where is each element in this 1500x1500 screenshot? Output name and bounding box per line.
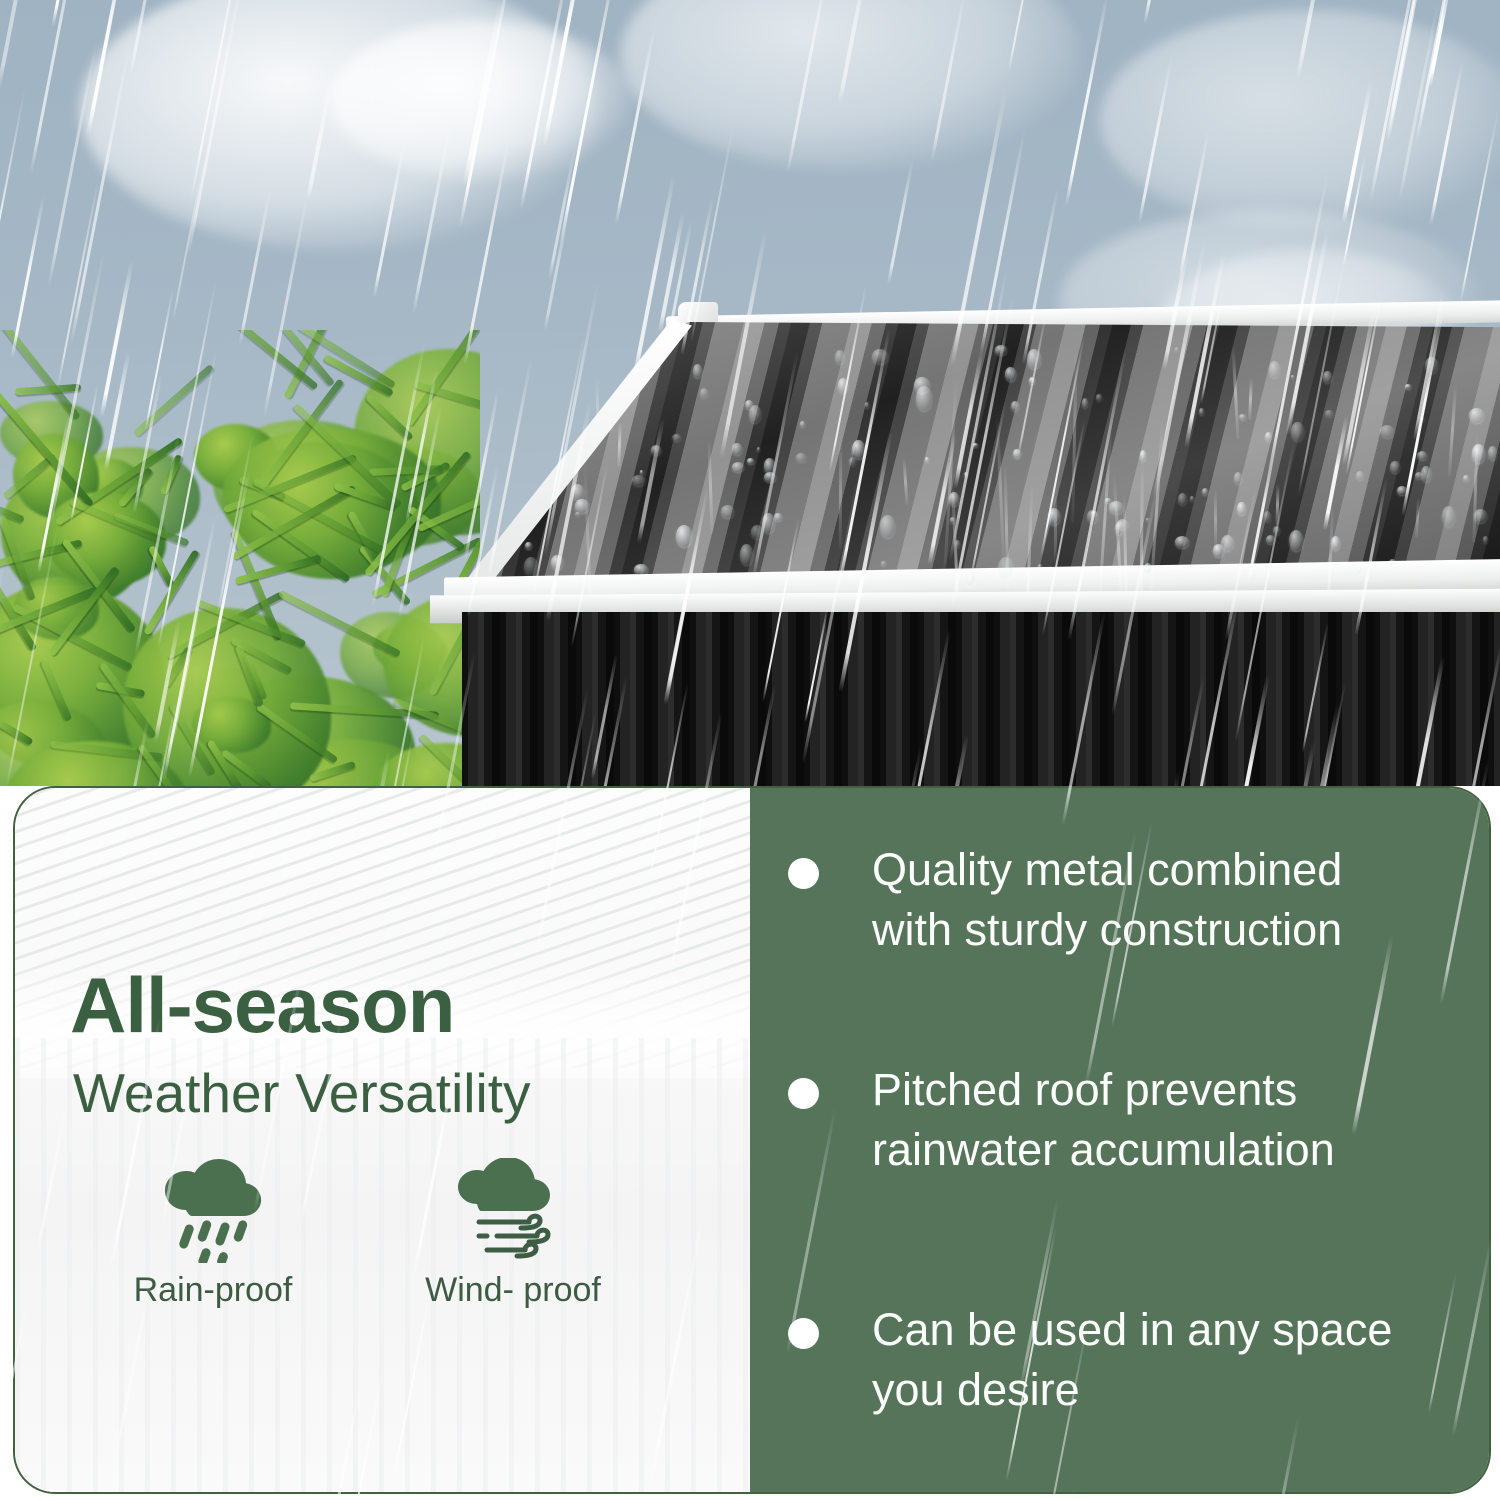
water-droplet: [1380, 425, 1394, 438]
water-droplet: [762, 513, 775, 533]
leaf-frond: [15, 383, 81, 395]
water-droplet: [1190, 496, 1194, 501]
water-droplet: [1325, 410, 1332, 417]
water-rivulet: [596, 378, 600, 433]
water-droplet: [1356, 471, 1364, 480]
water-droplet: [995, 345, 1006, 355]
list-item: Pitched roof prevents rainwater accumula…: [788, 1060, 1468, 1180]
water-droplet: [1483, 536, 1488, 543]
wind-cloud-icon: [363, 1158, 663, 1263]
water-droplet: [1221, 535, 1234, 551]
bullet-dot-icon: [788, 1078, 819, 1109]
water-droplet: [1415, 472, 1423, 479]
water-droplet: [1421, 466, 1431, 481]
water-droplet: [747, 458, 754, 464]
roof-wet-sheen: [470, 322, 1500, 590]
water-droplet: [1389, 559, 1396, 565]
list-item: Quality metal combined with sturdy const…: [788, 840, 1468, 960]
bullet-line: with sturdy construction: [872, 904, 1342, 955]
benefits-panel: Quality metal combined with sturdy const…: [750, 788, 1489, 1492]
water-droplet: [774, 513, 782, 520]
bullet-dot-icon: [788, 858, 819, 889]
cloud-shape: [330, 20, 630, 180]
water-droplet: [925, 457, 928, 462]
water-droplet: [916, 386, 932, 411]
water-droplet: [721, 505, 734, 517]
bullet-line: Quality metal combined: [872, 844, 1342, 895]
leaf-cluster: [44, 492, 166, 586]
water-droplet: [1265, 432, 1271, 441]
feature-icons-row: Rain-proof: [63, 1158, 663, 1310]
water-droplet: [1146, 518, 1150, 521]
shed-roof: [430, 300, 1500, 610]
water-droplet: [865, 402, 869, 408]
water-droplet: [676, 525, 692, 548]
water-droplet: [973, 443, 978, 447]
water-rivulet: [1214, 489, 1217, 548]
water-droplet: [745, 400, 753, 409]
water-droplet: [740, 544, 753, 564]
bullet-text: Can be used in any space you desire: [872, 1300, 1392, 1420]
bullet-dot-icon: [788, 1318, 819, 1349]
water-droplet: [525, 542, 531, 549]
water-droplet: [964, 472, 968, 477]
bullet-line: Pitched roof prevents: [872, 1064, 1297, 1115]
water-droplet: [1029, 377, 1035, 384]
feature-card: Quality metal combined with sturdy const…: [13, 786, 1491, 1494]
water-droplet: [880, 515, 894, 538]
leaf-frond: [133, 363, 215, 437]
water-droplet: [1005, 367, 1016, 381]
water-droplet: [757, 447, 760, 451]
page-title: All-season: [70, 966, 454, 1044]
water-droplet: [1011, 401, 1018, 411]
water-rivulet: [839, 437, 843, 548]
bullet-line: you desire: [872, 1364, 1080, 1415]
page-subtitle: Weather Versatility: [73, 1066, 531, 1121]
shed-wall: [462, 612, 1500, 786]
water-droplet: [872, 349, 887, 365]
tree-foliage: [0, 330, 480, 786]
water-droplet: [1420, 417, 1424, 421]
water-droplet: [1266, 535, 1275, 544]
water-droplet: [800, 421, 805, 427]
water-droplet: [1237, 502, 1245, 515]
cloud-shape: [620, 0, 1080, 170]
infographic-canvas: Quality metal combined with sturdy const…: [0, 0, 1500, 1500]
rain-cloud-icon: [63, 1158, 363, 1263]
bullet-line: rainwater accumulation: [872, 1124, 1335, 1175]
water-droplet: [1425, 357, 1438, 373]
water-droplet: [838, 378, 848, 393]
water-droplet: [1291, 422, 1304, 441]
water-droplet: [1323, 371, 1331, 383]
water-droplet: [1234, 472, 1242, 484]
feature-label: Rain-proof: [63, 1271, 363, 1310]
water-droplet: [1013, 449, 1020, 458]
feature-label: Wind- proof: [363, 1271, 663, 1310]
water-droplet: [835, 350, 845, 364]
water-droplet: [1239, 414, 1246, 420]
water-droplet: [1469, 408, 1484, 423]
water-droplet: [575, 512, 580, 516]
water-droplet: [634, 564, 647, 575]
feature-wind-proof: Wind- proof: [363, 1158, 663, 1310]
bullet-line: Can be used in any space: [872, 1304, 1392, 1355]
water-droplet: [1273, 526, 1280, 535]
water-droplet: [1442, 506, 1455, 527]
water-droplet: [1397, 486, 1406, 495]
headline-panel: All-season Weather Versatility: [15, 788, 750, 1492]
list-item: Can be used in any space you desire: [788, 1300, 1468, 1420]
water-droplet: [852, 440, 865, 459]
cloud-shape: [1100, 10, 1500, 230]
product-photo: [0, 0, 1500, 786]
bullet-text: Quality metal combined with sturdy const…: [872, 840, 1342, 960]
water-droplet: [1472, 444, 1485, 463]
water-droplet: [881, 561, 885, 566]
water-droplet: [849, 457, 856, 465]
feature-rain-proof: Rain-proof: [63, 1158, 363, 1310]
water-droplet: [1178, 493, 1187, 505]
water-rivulet: [1054, 478, 1057, 574]
water-droplet: [1264, 511, 1271, 521]
bullet-text: Pitched roof prevents rainwater accumula…: [872, 1060, 1335, 1180]
water-droplet: [796, 453, 805, 462]
water-droplet: [1390, 461, 1400, 472]
water-droplet: [1082, 398, 1088, 408]
water-droplet: [1463, 475, 1469, 481]
water-droplet: [651, 445, 661, 455]
